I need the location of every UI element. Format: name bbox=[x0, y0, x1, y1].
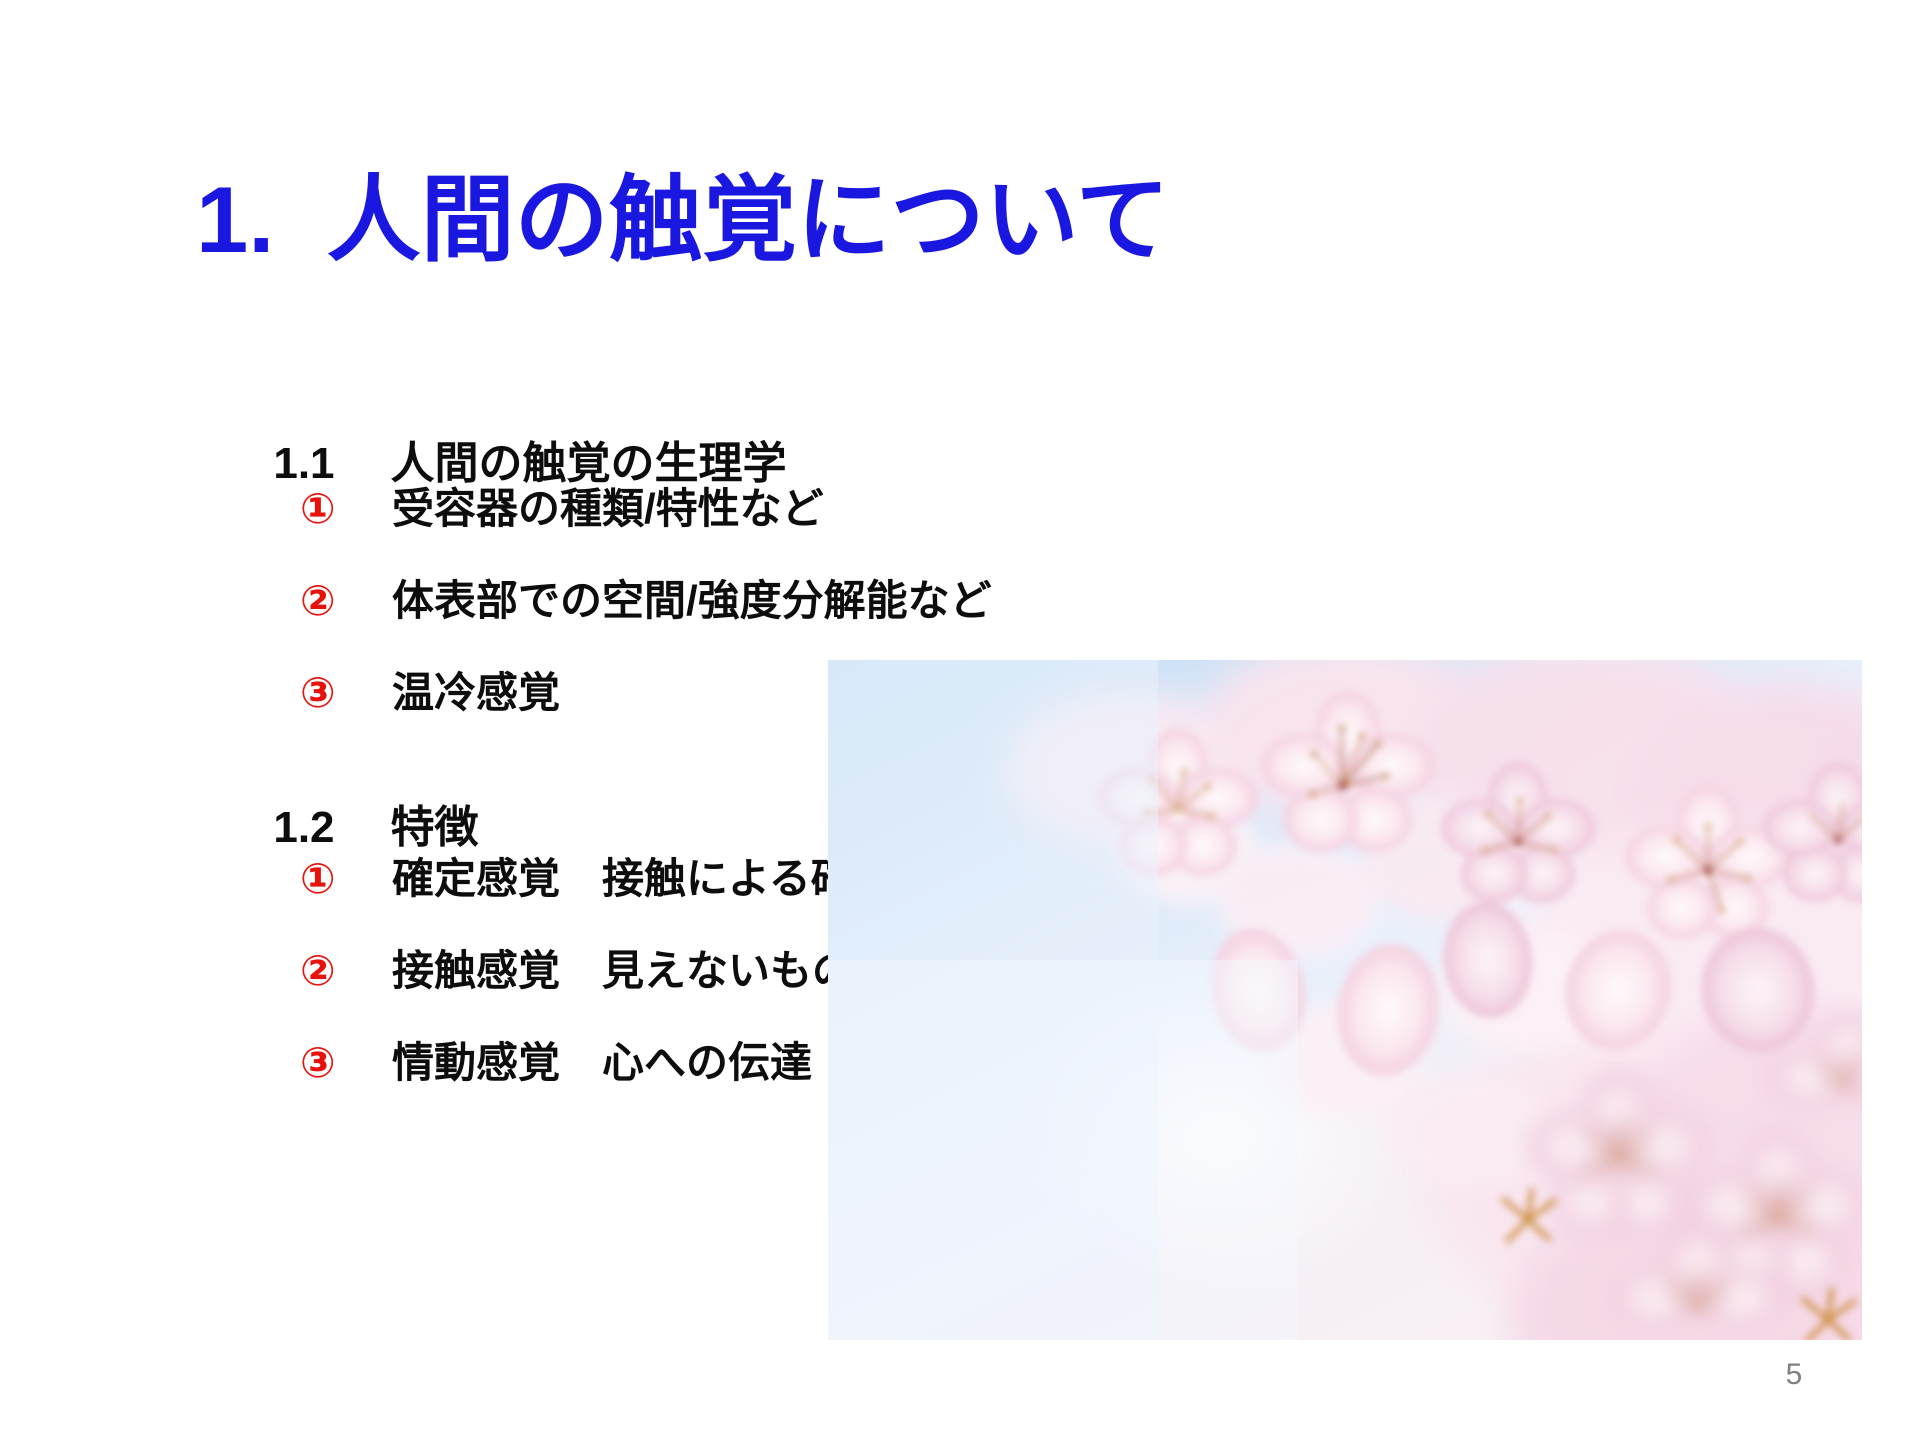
outline-item-1-2-3: ③情動感覚 心への伝達 bbox=[300, 1042, 812, 1084]
page-number: 5 bbox=[1772, 1358, 1816, 1392]
circled-number-1-icon: ① bbox=[300, 858, 392, 900]
outline-text-1-1-1: 受容器の種類/特性など bbox=[392, 488, 824, 530]
circled-number-3-icon: ③ bbox=[300, 672, 392, 714]
circled-number-1-icon: ① bbox=[300, 488, 392, 530]
outline-marker-1-1: 1.1 bbox=[273, 439, 334, 488]
slide: 1. 人間の触覚について 1.1人間の触覚の生理学 ①受容器の種類/特性など ②… bbox=[0, 0, 1920, 1440]
outline-text-1-2: 特徴 bbox=[391, 803, 479, 852]
outline-item-1-1-1: ①受容器の種類/特性など bbox=[300, 488, 824, 530]
outline-text-1-1-3: 温冷感覚 bbox=[392, 672, 560, 714]
cherry-blossom-illustration bbox=[828, 660, 1862, 1340]
outline-text-1-2-1: 確定感覚 接触による確認 bbox=[392, 858, 895, 900]
page-title: 1. 人間の触覚について bbox=[196, 168, 1170, 271]
circled-number-2-icon: ② bbox=[300, 580, 392, 622]
outline-text-1-1: 人間の触覚の生理学 bbox=[391, 439, 787, 488]
outline-item-1-1-2: ②体表部での空間/強度分解能など bbox=[300, 580, 992, 622]
circled-number-2-icon: ② bbox=[300, 950, 392, 992]
circled-number-3-icon: ③ bbox=[300, 1042, 392, 1084]
cherry-blossom-image bbox=[828, 660, 1862, 1340]
outline-item-1-2-1: ①確定感覚 接触による確認 bbox=[300, 858, 895, 900]
outline-text-1-2-3: 情動感覚 心への伝達 bbox=[392, 1042, 812, 1084]
outline-item-1-1-3: ③温冷感覚 bbox=[300, 672, 560, 714]
outline-marker-1-2: 1.2 bbox=[273, 803, 334, 852]
outline-text-1-1-2: 体表部での空間/強度分解能など bbox=[392, 580, 992, 622]
